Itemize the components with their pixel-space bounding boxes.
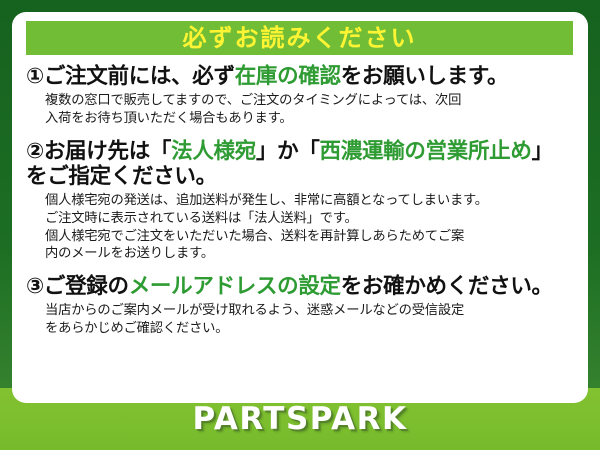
item-3-head-highlight: メールアドレスの設定 xyxy=(129,274,341,299)
notice-item-2-subtext: 個人様宅宛の発送は、追加送料が発生し、非常に高額となってしまいます。 ご注文時に… xyxy=(45,192,574,263)
item-1-sub-line-1: 複数の窓口で販売してますので、ご注文のタイミングによっては、次回 xyxy=(45,92,574,110)
partspark-logo: PARTSPARK xyxy=(192,401,407,437)
notice-item-3-subtext: 当店からのご案内メールが受け取れるよう、迷惑メールなどの受信設定 をあらかじめご… xyxy=(45,302,574,337)
item-2-bracket-close-2: 」 xyxy=(532,139,553,164)
notice-item-3: ③ご登録のメールアドレスの設定をお確かめください。 当店からのご案内メールが受け… xyxy=(26,274,574,338)
item-1-head-pre: ご注文前には、必ず xyxy=(44,64,235,89)
notice-item-2-heading-line1: ②お届け先は「法人様宛」か「西濃運輸の営業所止め」 xyxy=(26,139,574,165)
notice-item-1-heading: ①ご注文前には、必ず在庫の確認をお願いします。 xyxy=(26,64,574,90)
notice-items-list: ①ご注文前には、必ず在庫の確認をお願いします。 複数の窓口で販売してますので、ご… xyxy=(12,64,588,337)
item-2-head-highlight-1: 法人様宛 xyxy=(171,139,256,164)
item-2-bracket-open-1: 「 xyxy=(150,139,171,164)
outer-frame: PARTSPARK 必ずお読みください ①ご注文前には、必ず在庫の確認をお願いし… xyxy=(0,0,600,450)
header-banner: 必ずお読みください xyxy=(26,21,573,55)
notice-item-1-subtext: 複数の窓口で販売してますので、ご注文のタイミングによっては、次回 入荷をお待ち頂… xyxy=(45,92,574,127)
notice-item-2-heading-line2: をご指定ください。 xyxy=(26,164,574,190)
item-2-bracket-close-1: 」 xyxy=(256,139,277,164)
notice-panel: 必ずお読みください ①ご注文前には、必ず在庫の確認をお願いします。 複数の窓口で… xyxy=(12,12,588,403)
item-2-sub-line-2: ご注文時に表示されている送料は「法人送料」です。 xyxy=(45,210,574,228)
notice-item-1: ①ご注文前には、必ず在庫の確認をお願いします。 複数の窓口で販売してますので、ご… xyxy=(26,64,574,128)
item-2-head-mid: か xyxy=(277,139,298,164)
item-marker-3: ③ xyxy=(26,274,44,299)
item-2-sub-line-1: 個人様宅宛の発送は、追加送料が発生し、非常に高額となってしまいます。 xyxy=(45,192,574,210)
item-3-sub-line-2: をあらかじめご確認ください。 xyxy=(45,320,574,338)
item-2-sub-line-4: 内のメールをお送りします。 xyxy=(45,245,574,263)
item-3-sub-line-1: 当店からのご案内メールが受け取れるよう、迷惑メールなどの受信設定 xyxy=(45,302,574,320)
item-marker-1: ① xyxy=(26,64,44,89)
item-1-head-highlight: 在庫の確認 xyxy=(235,64,341,89)
item-3-head-pre: ご登録の xyxy=(44,274,129,299)
item-1-sub-line-2: 入荷をお待ち頂いただく場合もあります。 xyxy=(45,110,574,128)
notice-item-3-heading: ③ご登録のメールアドレスの設定をお確かめください。 xyxy=(26,274,574,300)
item-2-head-pre: お届け先は xyxy=(44,139,150,164)
item-2-head-highlight-2: 西濃運輸の営業所止め xyxy=(320,139,532,164)
item-1-head-post: をお願いします。 xyxy=(341,64,508,89)
item-2-sub-line-3: 個人様宅宛でご注文をいただいた場合、送料を再計算しあらためてご案 xyxy=(45,228,574,246)
item-marker-2: ② xyxy=(26,139,44,164)
item-2-bracket-open-2: 「 xyxy=(298,139,319,164)
page-title: 必ずお読みください xyxy=(183,26,417,50)
item-3-head-post: をお確かめください。 xyxy=(341,274,553,299)
notice-item-2: ②お届け先は「法人様宛」か「西濃運輸の営業所止め」 をご指定ください。 個人様宅… xyxy=(26,139,574,263)
